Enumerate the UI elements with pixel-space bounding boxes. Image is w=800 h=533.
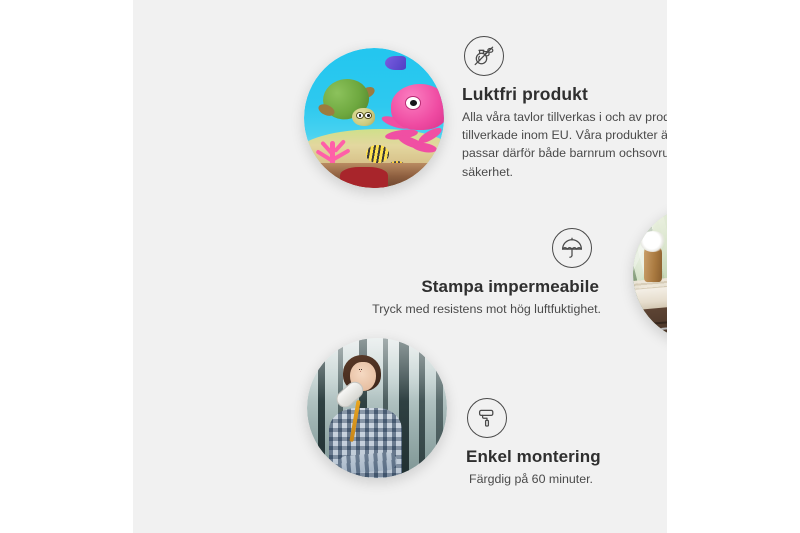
feature-assembly: Enkel montering Färgdig på 60 minuter. bbox=[466, 398, 667, 488]
feature-assembly-body: Färgdig på 60 minuter. bbox=[469, 470, 667, 488]
product-feature-panel: Luktfri produkt Alla våra tavlor tillver… bbox=[133, 0, 667, 533]
woman-eye bbox=[361, 369, 362, 370]
octopus-icon bbox=[380, 84, 444, 157]
octopus-eye bbox=[405, 96, 421, 110]
image-woman-with-paint-roller bbox=[307, 338, 447, 478]
turtle-eye bbox=[364, 112, 372, 120]
woman-eye bbox=[359, 369, 360, 370]
feature-waterproof: Stampa impermeabile Tryck med resistens … bbox=[313, 228, 603, 318]
feature-waterproof-title: Stampa impermeabile bbox=[313, 277, 599, 297]
drawer-handle bbox=[660, 324, 667, 330]
feature-assembly-title: Enkel montering bbox=[466, 447, 667, 467]
feature-odourless-body: Alla våra tavlor tillverkas i och av pro… bbox=[462, 108, 667, 181]
purple-fish-icon bbox=[385, 56, 406, 70]
turtle-eye bbox=[356, 112, 364, 120]
painter-photo bbox=[307, 338, 447, 478]
no-fragrance-icon bbox=[464, 36, 504, 76]
feature-odourless: Luktfri produkt Alla våra tavlor tillver… bbox=[462, 36, 667, 181]
pink-coral-icon bbox=[310, 126, 358, 165]
octopus-head bbox=[391, 84, 444, 129]
image-underwater-cartoon-mural bbox=[304, 48, 444, 188]
turtle-head bbox=[352, 108, 375, 126]
feature-odourless-title: Luktfri produkt bbox=[462, 84, 667, 105]
yellow-striped-fish-icon bbox=[366, 145, 390, 163]
woman-smile bbox=[360, 371, 362, 373]
bathroom-photo bbox=[633, 205, 667, 342]
white-flower bbox=[640, 231, 666, 252]
ocean-rock bbox=[340, 167, 388, 188]
feature-waterproof-body: Tryck med resistens mot hög luftfuktighe… bbox=[313, 300, 601, 318]
umbrella-icon bbox=[552, 228, 592, 268]
octopus-tentacle bbox=[411, 141, 437, 154]
drawer-seam bbox=[640, 313, 667, 325]
underwater-mural-art bbox=[304, 48, 444, 188]
screenshot-root: Luktfri produkt Alla våra tavlor tillver… bbox=[0, 0, 800, 533]
paint-roller-icon bbox=[467, 398, 507, 438]
image-bathroom-tropical-wallpaper bbox=[633, 205, 667, 342]
